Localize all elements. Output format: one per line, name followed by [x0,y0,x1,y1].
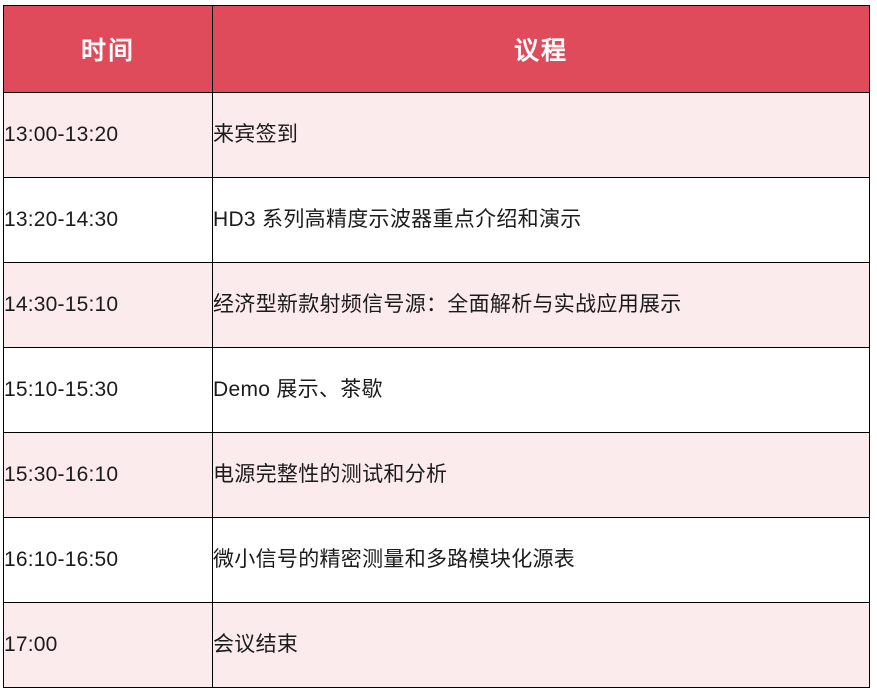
cell-topic: Demo 展示、茶歇 [213,348,870,433]
cell-time: 13:20-14:30 [4,178,213,263]
table-row: 14:30-15:10经济型新款射频信号源：全面解析与实战应用展示 [4,263,870,348]
table-row: 15:30-16:10电源完整性的测试和分析 [4,433,870,518]
table-row: 13:00-13:20来宾签到 [4,93,870,178]
cell-topic: 电源完整性的测试和分析 [213,433,870,518]
cell-topic: 微小信号的精密测量和多路模块化源表 [213,518,870,603]
table-row: 17:00会议结束 [4,603,870,688]
cell-topic: HD3 系列高精度示波器重点介绍和演示 [213,178,870,263]
column-header-topic: 议程 [213,6,870,93]
column-header-time: 时间 [4,6,213,93]
table-row: 13:20-14:30HD3 系列高精度示波器重点介绍和演示 [4,178,870,263]
table-header-row: 时间 议程 [4,6,870,93]
cell-topic: 来宾签到 [213,93,870,178]
cell-topic: 经济型新款射频信号源：全面解析与实战应用展示 [213,263,870,348]
cell-time: 13:00-13:20 [4,93,213,178]
cell-time: 14:30-15:10 [4,263,213,348]
cell-topic: 会议结束 [213,603,870,688]
agenda-table-container: 时间 议程 13:00-13:20来宾签到13:20-14:30HD3 系列高精… [3,5,869,688]
cell-time: 17:00 [4,603,213,688]
cell-time: 15:10-15:30 [4,348,213,433]
agenda-table-head: 时间 议程 [4,6,870,93]
cell-time: 16:10-16:50 [4,518,213,603]
table-row: 16:10-16:50微小信号的精密测量和多路模块化源表 [4,518,870,603]
agenda-table: 时间 议程 13:00-13:20来宾签到13:20-14:30HD3 系列高精… [3,5,870,688]
agenda-table-body: 13:00-13:20来宾签到13:20-14:30HD3 系列高精度示波器重点… [4,93,870,688]
agenda-page: 时间 议程 13:00-13:20来宾签到13:20-14:30HD3 系列高精… [0,0,877,696]
cell-time: 15:30-16:10 [4,433,213,518]
table-row: 15:10-15:30Demo 展示、茶歇 [4,348,870,433]
